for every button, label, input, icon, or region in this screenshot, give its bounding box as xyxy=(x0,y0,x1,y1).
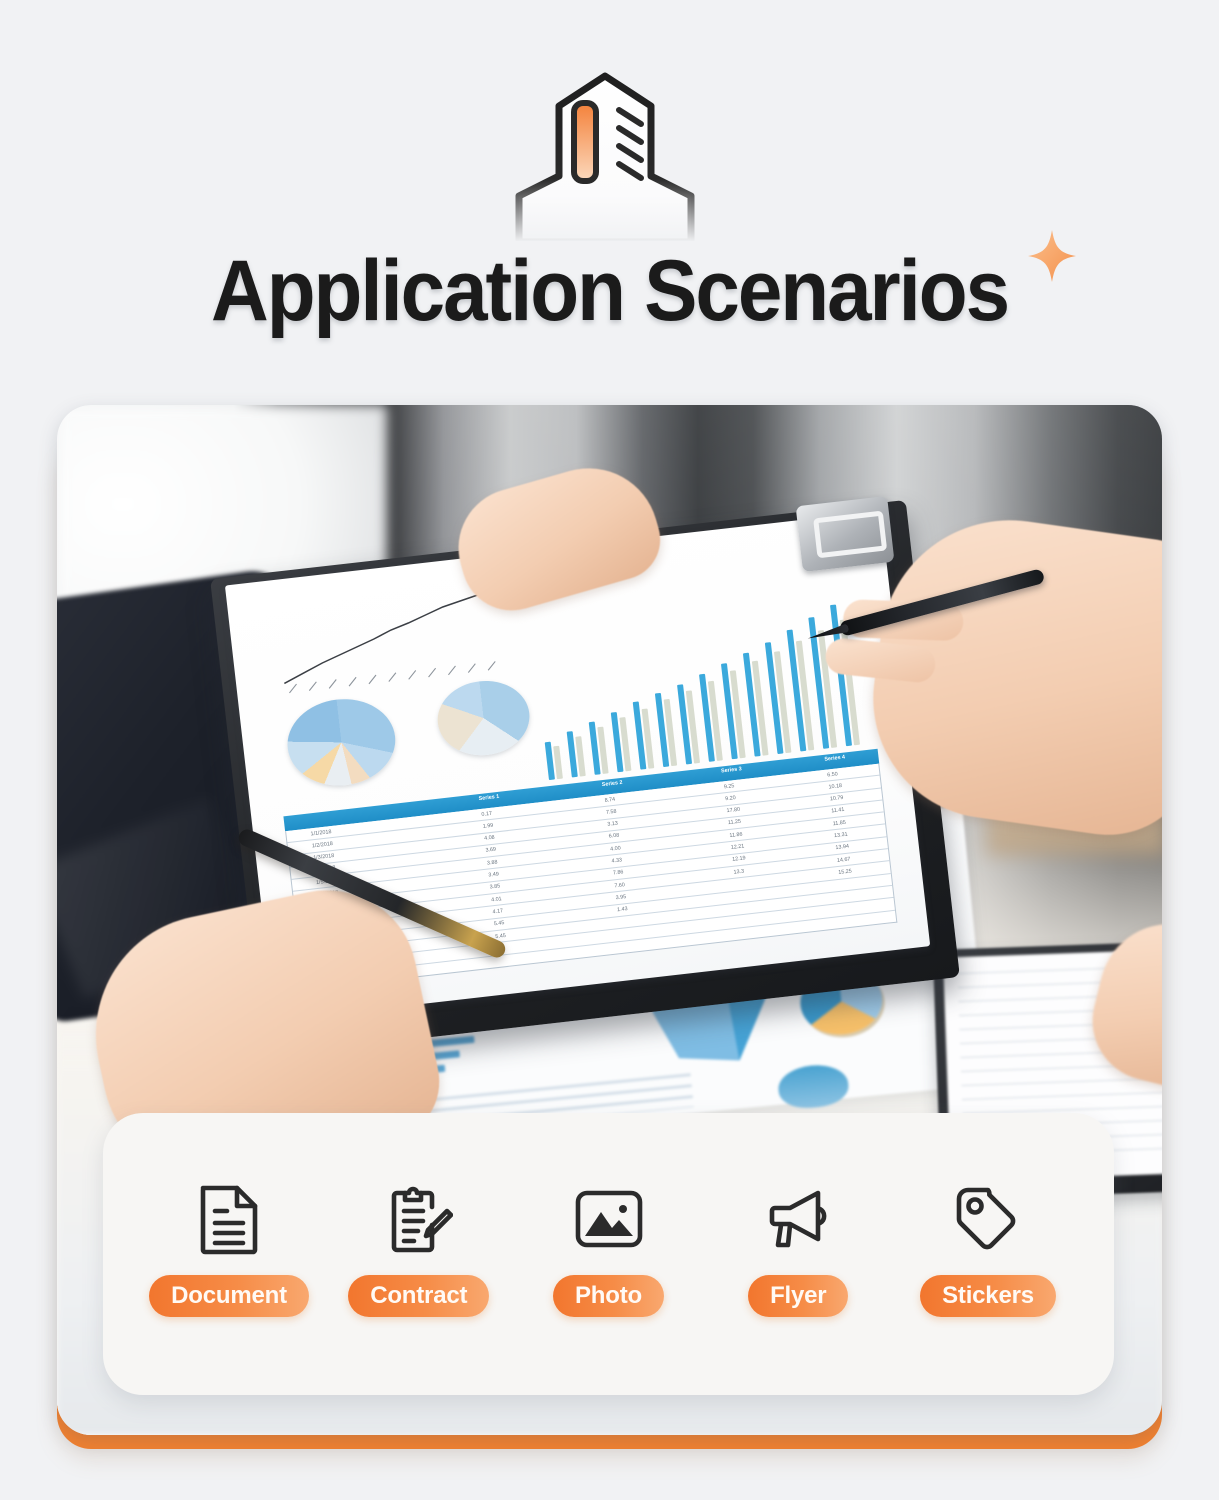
cell-date: 1/2/2018 xyxy=(312,841,334,849)
cell-value: 3.88 xyxy=(487,859,498,866)
megaphone-icon xyxy=(760,1181,836,1257)
clipboard-clamp xyxy=(796,496,895,572)
column-header: Series 4 xyxy=(824,754,845,762)
cell-value: 11.41 xyxy=(831,807,845,814)
cell-value: 0.17 xyxy=(481,810,492,817)
cell-value: 7.60 xyxy=(614,882,625,889)
badge-label[interactable]: Contract xyxy=(348,1275,489,1317)
cell-value: 4.08 xyxy=(484,835,495,842)
image-icon xyxy=(571,1181,647,1257)
cell-value: 6.50 xyxy=(827,771,838,778)
cell-value: 9.25 xyxy=(724,783,735,790)
cell-value: 6.08 xyxy=(609,833,620,840)
cell-value: 4.01 xyxy=(491,896,502,903)
column-header: Series 3 xyxy=(721,766,742,774)
header: Application Scenarios xyxy=(0,0,1219,405)
cell-value: 3.13 xyxy=(607,821,618,828)
cell-value: 3.69 xyxy=(485,847,496,854)
cell-value: 10.18 xyxy=(828,783,842,790)
cell-value: 3.49 xyxy=(488,871,499,878)
cell-value: 3.85 xyxy=(489,884,500,891)
cell-value: 4.17 xyxy=(492,908,503,915)
cell-value: 13.31 xyxy=(834,832,848,839)
cell-value: 11.85 xyxy=(832,820,846,827)
cell-value: 3.95 xyxy=(615,894,626,901)
badge-label[interactable]: Document xyxy=(149,1275,309,1317)
cell-value: 17.80 xyxy=(726,807,740,814)
cell-value: 1.99 xyxy=(483,823,494,830)
tag-icon xyxy=(950,1181,1026,1257)
cell-value: 15.25 xyxy=(838,868,852,875)
building-icon xyxy=(495,66,715,241)
cell-value: 9.20 xyxy=(725,795,736,802)
cell-value: 11.25 xyxy=(728,819,742,826)
report-pie-chart-1 xyxy=(283,694,400,792)
cell-value: 8.74 xyxy=(604,796,615,803)
badge-contract[interactable]: Contract xyxy=(333,1181,505,1317)
document-icon xyxy=(191,1181,267,1257)
cell-value: 13.94 xyxy=(835,844,849,851)
cell-value: 13.3 xyxy=(733,868,744,875)
cell-value: 14.67 xyxy=(837,856,851,863)
badge-label[interactable]: Stickers xyxy=(920,1275,1056,1317)
badge-label[interactable]: Flyer xyxy=(748,1275,848,1317)
cell-value: 12.19 xyxy=(732,856,746,863)
badge-label[interactable]: Photo xyxy=(553,1275,664,1317)
badge-photo[interactable]: Photo xyxy=(523,1181,695,1317)
cell-value: 11.86 xyxy=(729,831,743,838)
cell-value: 5.45 xyxy=(494,920,505,927)
cell-value: 7.58 xyxy=(606,809,617,816)
cell-value: 4.33 xyxy=(611,857,622,864)
column-header: Series 2 xyxy=(602,780,623,788)
cell-value: 12.21 xyxy=(731,844,745,851)
column-header: Series 1 xyxy=(478,794,499,802)
badge-document[interactable]: Document xyxy=(143,1181,315,1317)
page-title: Application Scenarios xyxy=(211,248,1008,334)
cell-date: 1/1/2018 xyxy=(310,829,332,837)
report-pie-chart-2 xyxy=(434,676,534,760)
sparkle-icon xyxy=(1026,228,1078,284)
cell-value: 10.79 xyxy=(830,795,844,802)
cell-value: 4.00 xyxy=(610,845,621,852)
cell-value: 1.43 xyxy=(617,906,628,913)
cell-value: 7.86 xyxy=(613,870,624,877)
contract-clipboard-icon xyxy=(381,1181,457,1257)
badge-flyer[interactable]: Flyer xyxy=(712,1181,884,1317)
badge-stickers[interactable]: Stickers xyxy=(902,1181,1074,1317)
scenario-badge-panel: Document Contract Photo xyxy=(103,1113,1114,1395)
cell-value: 5.45 xyxy=(495,933,506,940)
